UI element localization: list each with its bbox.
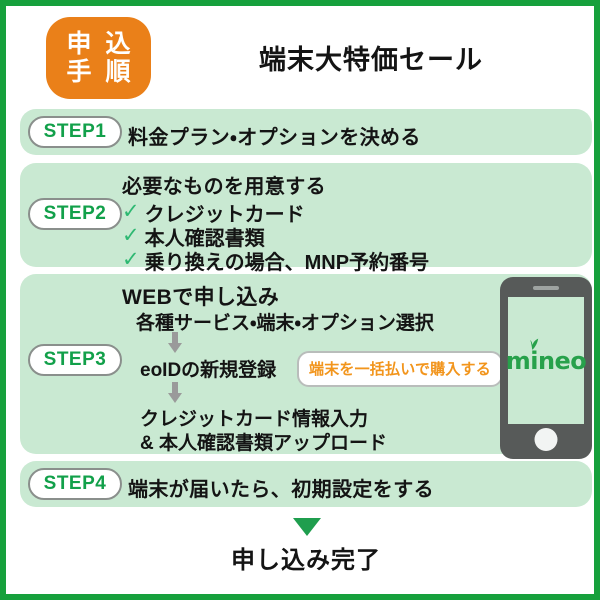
badge-char-2: 込	[106, 31, 131, 57]
step-3-flow-line-4: & 本人確認書類アップロード	[140, 428, 387, 455]
flow-arrow-icon-1	[168, 332, 182, 354]
step-1-pill-label: STEP1	[44, 121, 107, 143]
check-icon: ✓	[122, 201, 140, 222]
step-2-check-label-3: 乗り換えの場合、MNP予約番号	[145, 246, 429, 275]
badge-char-4: 順	[106, 59, 131, 85]
step-4-pill-label: STEP4	[44, 473, 107, 495]
infographic-canvas: 申 込 手 順 端末大特価セール STEP1 料金プラン・オプションを決める S…	[6, 6, 594, 594]
flow-arrow-icon-2	[168, 382, 182, 404]
step-3-title: WEBで申し込み	[122, 281, 279, 311]
check-icon: ✓	[122, 249, 140, 270]
phone-screen: mineo	[508, 297, 584, 424]
phone-home-button	[535, 428, 558, 451]
infographic-frame: 申 込 手 順 端末大特価セール STEP1 料金プラン・オプションを決める S…	[0, 0, 600, 600]
page-title: 端末大特価セール	[156, 38, 586, 77]
smartphone-mockup: mineo	[500, 277, 592, 459]
completion-text: 申し込み完了	[6, 540, 600, 575]
step-3-flow-line-1: 各種サービス・端末・オプション選択	[136, 308, 434, 335]
step-2-check-item-3: ✓ 乗り換えの場合、MNP予約番号	[122, 246, 429, 275]
mineo-logo: mineo	[506, 347, 587, 375]
badge-row-1: 申 込	[66, 31, 130, 57]
step-2-title: 必要なものを用意する	[122, 170, 326, 199]
step-2-pill-label: STEP2	[44, 203, 107, 225]
application-procedure-badge: 申 込 手 順	[46, 17, 151, 99]
step-2-pill: STEP2	[28, 198, 122, 230]
badge-char-1: 申	[66, 31, 91, 57]
lump-sum-purchase-callout: 端末を一括払いで購入する	[297, 351, 503, 387]
step-3-pill-label: STEP3	[44, 349, 107, 371]
mineo-logo-text: mineo	[506, 347, 587, 375]
leaf-icon	[526, 338, 539, 350]
step-3-flow-line-3: クレジットカード情報入力	[140, 404, 368, 431]
badge-char-3: 手	[66, 59, 91, 85]
step-3-pill: STEP3	[28, 344, 122, 376]
badge-row-2: 手 順	[66, 59, 130, 85]
step-4-pill: STEP4	[28, 468, 122, 500]
phone-speaker	[533, 286, 559, 290]
step-4-title: 端末が届いたら、初期設定をする	[128, 473, 434, 502]
step-1-pill: STEP1	[28, 116, 122, 148]
step-3-flow-line-2: eoIDの新規登録	[140, 355, 276, 382]
callout-label: 端末を一括払いで購入する	[309, 361, 491, 378]
triangle-down-icon	[293, 518, 321, 536]
check-icon: ✓	[122, 225, 140, 246]
step-1-title: 料金プラン・オプションを決める	[128, 121, 421, 150]
